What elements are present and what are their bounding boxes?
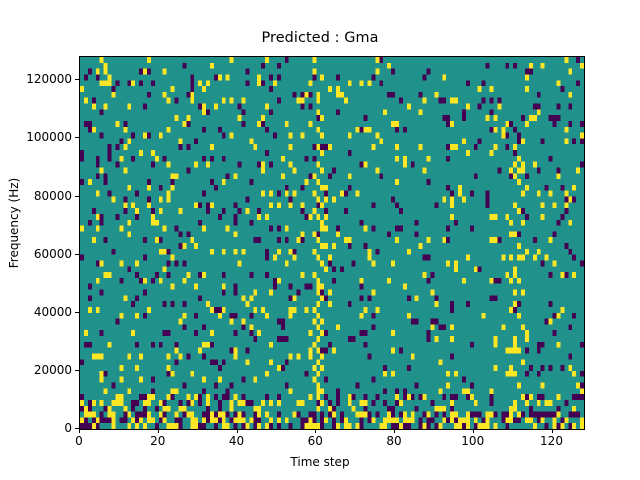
x-tick-label: 100 bbox=[461, 434, 484, 448]
x-tick-label: 40 bbox=[229, 434, 244, 448]
x-tick-mark bbox=[394, 429, 395, 433]
x-tick-mark bbox=[473, 429, 474, 433]
heatmap-image bbox=[80, 57, 584, 429]
x-tick-mark bbox=[315, 429, 316, 433]
y-tick-mark bbox=[75, 370, 79, 371]
x-tick-label: 20 bbox=[150, 434, 165, 448]
y-tick-label: 120000 bbox=[0, 72, 72, 86]
x-tick-label: 80 bbox=[386, 434, 401, 448]
y-tick-label: 20000 bbox=[0, 363, 72, 377]
x-tick-mark bbox=[158, 429, 159, 433]
y-tick-mark bbox=[75, 79, 79, 80]
chart-title: Predicted : Gma bbox=[0, 30, 640, 46]
x-tick-mark bbox=[552, 429, 553, 433]
heatmap-plot-area bbox=[79, 56, 585, 430]
y-tick-mark bbox=[75, 137, 79, 138]
x-tick-label: 60 bbox=[308, 434, 323, 448]
figure-canvas: Predicted : Gma 020406080100120 02000040… bbox=[0, 0, 640, 480]
x-tick-label: 120 bbox=[540, 434, 563, 448]
y-tick-mark bbox=[75, 312, 79, 313]
y-axis-label: Frequency (Hz) bbox=[7, 123, 21, 323]
x-tick-label: 0 bbox=[75, 434, 83, 448]
x-tick-mark bbox=[237, 429, 238, 433]
y-tick-mark bbox=[75, 428, 79, 429]
y-tick-mark bbox=[75, 196, 79, 197]
y-tick-mark bbox=[75, 254, 79, 255]
y-tick-label: 0 bbox=[0, 421, 72, 435]
x-tick-mark bbox=[79, 429, 80, 433]
x-axis-label: Time step bbox=[0, 455, 640, 469]
